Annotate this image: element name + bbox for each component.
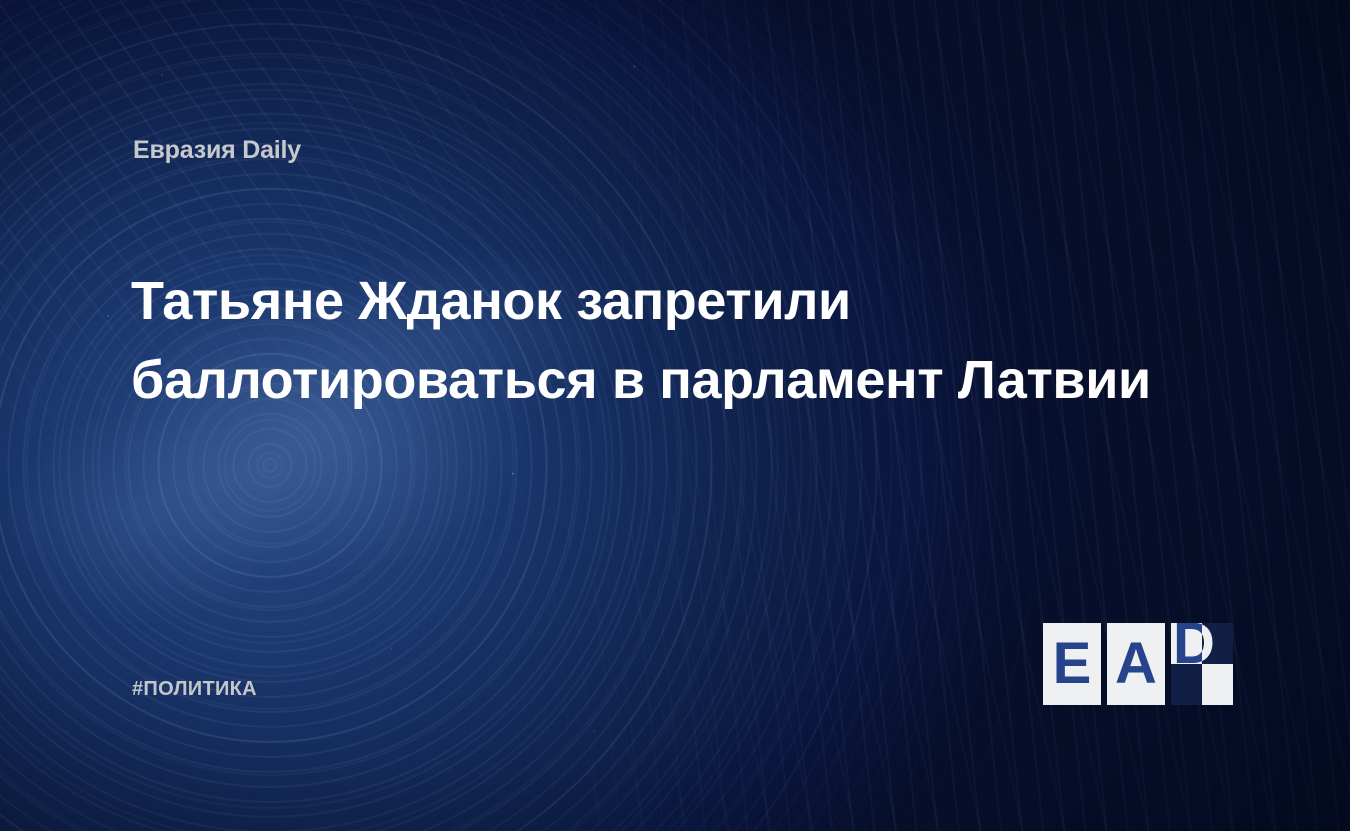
logo-letter-d-part-tr: D (1202, 623, 1215, 664)
ead-logo: E A D D D D (1043, 623, 1229, 705)
logo-letter-d-part-br: D (1202, 664, 1215, 673)
logo-tile-d-quadrant-br: D (1202, 664, 1233, 705)
logo-tile-d-quadrant-tr: D (1202, 623, 1233, 664)
logo-letter-d-part-bl: D (1173, 664, 1202, 673)
logo-tile-a: A (1107, 623, 1165, 705)
headline-line-1: Татьяне Жданок запретили (131, 262, 1191, 341)
logo-tile-d-quadrant-tl: D (1171, 623, 1202, 664)
news-card: Евразия Daily Татьяне Жданок запретили б… (0, 0, 1350, 831)
logo-letter-d-part-tl: D (1173, 623, 1202, 664)
headline: Татьяне Жданок запретили баллотироваться… (131, 262, 1191, 420)
logo-tile-d: D D D D (1171, 623, 1233, 705)
logo-letter-e: E (1043, 623, 1101, 705)
headline-line-2: баллотироваться в парламент Латвии (131, 341, 1191, 420)
brand-wordmark: Евразия Daily (133, 136, 301, 165)
category-tag[interactable]: #ПОЛИТИКА (132, 678, 257, 701)
logo-tile-d-quadrant-bl: D (1171, 664, 1202, 705)
logo-tile-e: E (1043, 623, 1101, 705)
logo-letter-a: A (1107, 623, 1165, 705)
